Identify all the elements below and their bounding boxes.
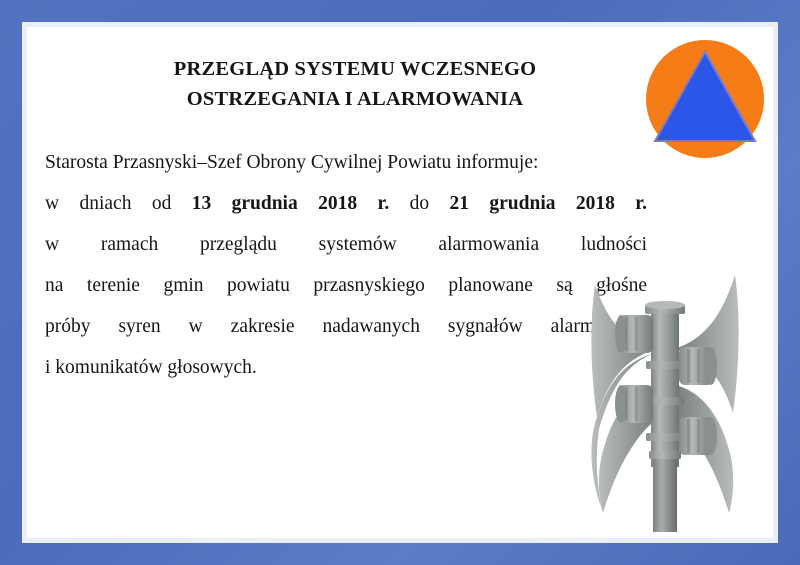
siren-driver-upper-left <box>615 315 653 353</box>
date-start: 13 grudnia 2018 r. <box>192 193 390 214</box>
poster-title: PRZEGLĄD SYSTEMU WCZESNEGO OSTRZEGANIA I… <box>105 54 605 114</box>
body-line-3: w ramach przeglądu systemów alarmowania … <box>45 224 647 265</box>
warning-siren-icon <box>575 267 755 532</box>
siren-pole-collar <box>649 451 681 459</box>
date-end: 21 grudnia 2018 r. <box>450 193 648 214</box>
siren-mounting-pole <box>653 453 677 532</box>
civil-defence-emblem-icon <box>645 38 765 160</box>
poster-root: PRZEGLĄD SYSTEMU WCZESNEGO OSTRZEGANIA I… <box>0 0 800 565</box>
siren-driver-lower-right <box>679 417 717 455</box>
body-line-6: i komunikatów głosowych. <box>45 347 647 388</box>
civil-defence-logo <box>645 38 765 160</box>
siren-top-rim <box>645 301 685 309</box>
body-line-5: próby syren w zakresie nadawanych sygnał… <box>45 306 647 347</box>
siren-driver-lower-left <box>615 385 653 423</box>
poster-title-line-2: OSTRZEGANIA I ALARMOWANIA <box>105 84 605 114</box>
poster-body-text: Starosta Przasnyski–Szef Obrony Cywilnej… <box>45 142 647 388</box>
body-line-1: Starosta Przasnyski–Szef Obrony Cywilnej… <box>45 142 647 183</box>
body-line-2-middle: do <box>389 193 449 214</box>
siren-mid-band-1 <box>646 361 684 369</box>
poster-title-line-1: PRZEGLĄD SYSTEMU WCZESNEGO <box>105 54 605 84</box>
body-line-2-prefix: w dniach od <box>45 193 192 214</box>
warning-siren-illustration <box>575 267 755 532</box>
siren-central-column <box>651 307 679 467</box>
siren-mid-band-3 <box>646 433 684 441</box>
body-line-2: w dniach od 13 grudnia 2018 r. do 21 gru… <box>45 183 647 224</box>
body-paragraph: Starosta Przasnyski–Szef Obrony Cywilnej… <box>45 142 647 388</box>
siren-driver-upper-right <box>679 347 717 385</box>
poster-content-area: PRZEGLĄD SYSTEMU WCZESNEGO OSTRZEGANIA I… <box>27 27 773 538</box>
body-line-4: na terenie gmin powiatu przasnyskiego pl… <box>45 265 647 306</box>
